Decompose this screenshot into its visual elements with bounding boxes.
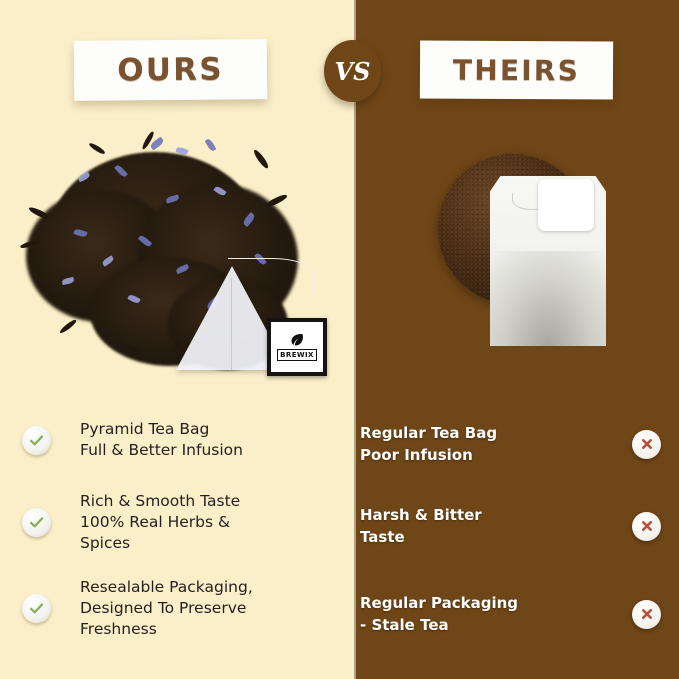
tea-leaf xyxy=(252,148,270,169)
tea-leaf xyxy=(59,318,78,335)
cross-glyph xyxy=(639,436,655,452)
check-glyph xyxy=(28,432,45,449)
brand-tag-inner: BREWIX xyxy=(271,322,323,372)
list-item-label: Resealable Packaging, Designed To Preser… xyxy=(80,577,253,640)
check-icon xyxy=(22,508,51,537)
list-item: Rich & Smooth Taste 100% Real Herbs & Sp… xyxy=(0,486,350,558)
cross-icon xyxy=(632,430,661,459)
list-item: Regular Tea Bag Poor Infusion xyxy=(360,408,679,480)
list-item: Pyramid Tea Bag Full & Better Infusion xyxy=(0,404,350,476)
leaf-logo-icon xyxy=(289,333,305,347)
ours-header-label: OURS xyxy=(117,52,224,89)
list-item: Regular Packaging - Stale Tea xyxy=(360,578,679,650)
check-icon xyxy=(22,426,51,455)
list-item: Harsh & Bitter Taste xyxy=(360,490,679,562)
list-item-label: Pyramid Tea Bag Full & Better Infusion xyxy=(80,419,243,461)
theirs-header-box: THEIRS xyxy=(420,40,613,99)
brand-tag: BREWIX xyxy=(267,318,327,376)
ours-header-box: OURS xyxy=(74,39,268,101)
cross-glyph xyxy=(639,518,655,534)
theirs-product-image xyxy=(356,128,679,400)
blank-tea-bag-tag xyxy=(538,179,594,231)
theirs-header-label: THEIRS xyxy=(453,53,580,87)
cross-icon xyxy=(632,600,661,629)
list-item-label: Harsh & Bitter Taste xyxy=(360,504,482,548)
cross-icon xyxy=(632,512,661,541)
cross-glyph xyxy=(639,606,655,622)
pyramid-seam xyxy=(231,278,232,370)
vs-label: VS xyxy=(335,57,371,86)
cornflower-petal xyxy=(205,138,217,152)
list-item-label: Rich & Smooth Taste 100% Real Herbs & Sp… xyxy=(80,491,240,554)
list-item-label: Regular Tea Bag Poor Infusion xyxy=(360,422,497,466)
check-glyph xyxy=(28,514,45,531)
tea-leaf xyxy=(88,142,106,155)
check-icon xyxy=(22,594,51,623)
tea-bag-contents xyxy=(490,251,606,346)
flat-paper-tea-bag xyxy=(490,176,606,346)
list-item-label: Regular Packaging - Stale Tea xyxy=(360,592,518,636)
vs-badge: VS xyxy=(324,40,381,102)
list-item: Resealable Packaging, Designed To Preser… xyxy=(0,572,350,644)
brand-name: BREWIX xyxy=(277,349,317,361)
check-glyph xyxy=(28,600,45,617)
comparison-infographic: OURS VS THEIRS xyxy=(0,0,679,679)
